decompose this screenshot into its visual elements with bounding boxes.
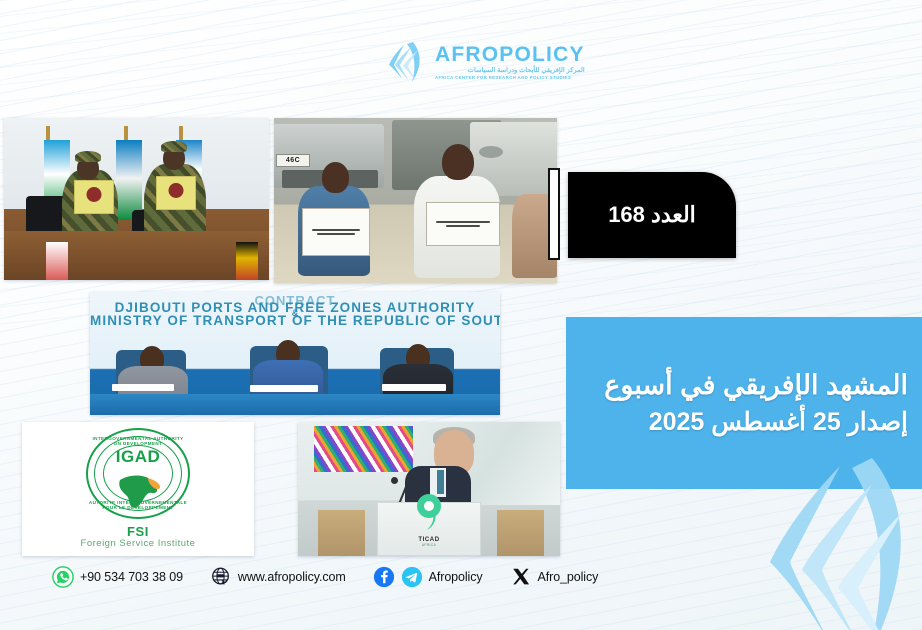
globe-icon[interactable] <box>210 566 232 588</box>
headline-banner: المشهد الإفريقي في أسبوع إصدار 25 أغسطس … <box>566 317 922 489</box>
fsi-subtitle: Foreign Service Institute <box>81 539 196 550</box>
fsi-acronym: FSI <box>127 524 149 539</box>
brand-name: AFROPOLICY <box>435 44 585 65</box>
whatsapp-icon[interactable] <box>52 566 74 588</box>
afropolicy-wave-logo-icon <box>383 39 429 85</box>
africa-map-icon <box>112 470 164 512</box>
headline-edition: إصدار 25 أغسطس 2025 <box>649 407 908 437</box>
photo-djibouti-signing: CONTRACT DJIBOUTI PORTS AND FREE ZONES A… <box>90 292 500 415</box>
ticad-nine-icon <box>409 491 449 531</box>
igad-seal: INTERGOVERNMENTAL AUTHORITY ON DEVELOPME… <box>86 428 190 519</box>
igad-ring-top-text: INTERGOVERNMENTAL AUTHORITY ON DEVELOPME… <box>88 436 188 446</box>
telegram-icon[interactable] <box>401 566 423 588</box>
vertical-divider-strip <box>548 168 560 260</box>
vehicle-plate: 46C <box>276 154 310 167</box>
poster-canvas: AFROPOLICY المركز الإفريقي للأبحاث ودراس… <box>0 0 922 630</box>
issue-number-label: العدد 168 <box>608 202 696 228</box>
footer-x-twitter[interactable]: Afro_policy <box>510 566 599 588</box>
ticad-sub-label: AFRICA <box>409 543 449 547</box>
igad-acronym: IGAD <box>88 447 188 467</box>
issue-number-badge: العدد 168 <box>568 172 736 258</box>
photo-ticad-speech: TICAD AFRICA <box>298 422 560 556</box>
photo-military-signing <box>4 118 269 280</box>
brand-logo: AFROPOLICY المركز الإفريقي للأبحاث ودراس… <box>383 36 563 88</box>
footer-whatsapp[interactable]: +90 534 703 38 09 <box>52 566 183 588</box>
brand-arabic-subtitle: المركز الإفريقي للأبحاث ودراسة السياسات <box>435 68 585 75</box>
footer-website[interactable]: www.afropolicy.com <box>210 566 346 588</box>
brand-english-subtitle: AFRICA CENTER FOR RESEARCH AND POLICY ST… <box>435 76 585 80</box>
whatsapp-number: +90 534 703 38 09 <box>80 570 183 584</box>
signing-banner-line3: MINISTRY OF TRANSPORT OF THE REPUBLIC OF… <box>90 313 500 328</box>
photo-detainees: 46C <box>274 118 557 283</box>
facebook-icon[interactable] <box>373 566 395 588</box>
social-handle: Afropolicy <box>429 570 483 584</box>
footer-contact-bar: +90 534 703 38 09 www.afropolicy.com <box>0 562 620 592</box>
brand-text-block: AFROPOLICY المركز الإفريقي للأبحاث ودراس… <box>435 44 585 80</box>
x-handle: Afro_policy <box>538 570 599 584</box>
photo-igad-fsi-logo: INTERGOVERNMENTAL AUTHORITY ON DEVELOPME… <box>22 422 254 556</box>
x-twitter-icon[interactable] <box>510 566 532 588</box>
website-url: www.afropolicy.com <box>238 570 346 584</box>
footer-social[interactable]: Afropolicy <box>373 566 483 588</box>
ticad-podium-logo: TICAD AFRICA <box>409 491 449 547</box>
headline-title: المشهد الإفريقي في أسبوع <box>604 370 908 401</box>
